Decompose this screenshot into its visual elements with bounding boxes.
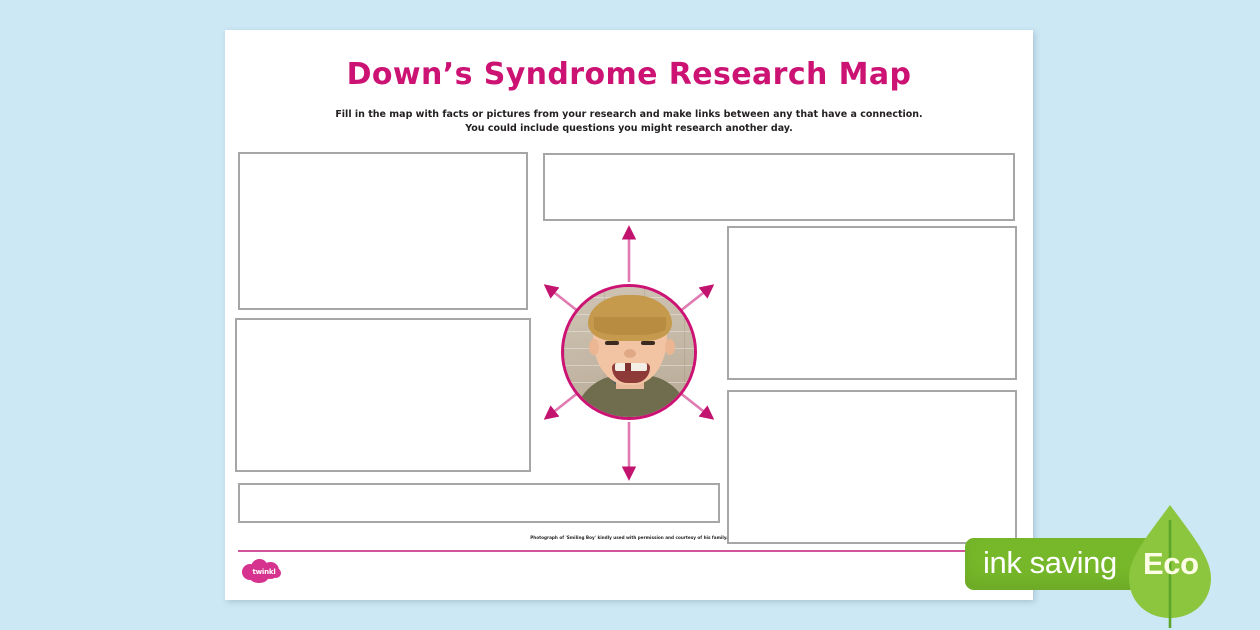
nose (624, 349, 636, 358)
teeth-gap (625, 363, 631, 371)
answer-box-middle-left[interactable] (235, 318, 531, 472)
answer-box-right-upper[interactable] (727, 226, 1017, 380)
logo-wordmark: twinkl (247, 568, 281, 576)
page-title: Down’s Syndrome Research Map (225, 57, 1033, 92)
answer-box-bottom[interactable] (238, 483, 720, 523)
photo-attribution: Photograph of 'Smiling Boy' kindly used … (225, 535, 1033, 540)
ear-right (665, 339, 675, 355)
ink-saving-eco-badge: ink saving Eco (965, 538, 1260, 596)
eye-left (605, 341, 619, 345)
answer-box-top-left[interactable] (238, 152, 528, 310)
eco-badge-bar-label: ink saving (983, 545, 1117, 581)
screenshot-canvas: Down’s Syndrome Research Map Fill in the… (0, 0, 1260, 630)
ear-left (589, 339, 599, 355)
eye-right (641, 341, 655, 345)
answer-box-top-right[interactable] (543, 153, 1015, 221)
twinkl-logo[interactable]: twinkl (241, 557, 287, 585)
answer-box-right-lower[interactable] (727, 390, 1017, 544)
research-map-hub (539, 224, 719, 484)
centre-photo (561, 284, 697, 420)
footer-divider (238, 550, 1020, 552)
subtitle-line-1: Fill in the map with facts or pictures f… (279, 108, 979, 122)
eco-badge-leaf-label: Eco (1143, 546, 1199, 582)
hair-fringe (594, 317, 666, 335)
page-subtitle: Fill in the map with facts or pictures f… (279, 108, 979, 136)
teeth (615, 363, 647, 371)
subtitle-line-2: You could include questions you might re… (279, 122, 979, 136)
worksheet-page: Down’s Syndrome Research Map Fill in the… (225, 30, 1033, 600)
